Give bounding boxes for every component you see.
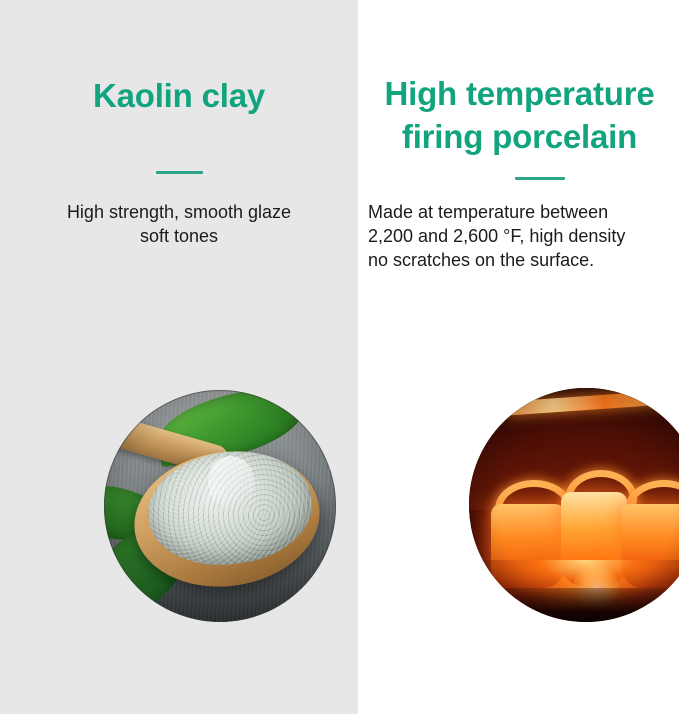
kiln-photo-vignette — [469, 388, 679, 622]
product-feature-comparison: Kaolin clay High strength, smooth glaze … — [0, 0, 679, 714]
feature-panel-high-temperature-firing: High temperature firing porcelain Made a… — [358, 0, 679, 714]
feature-panel-kaolin-clay: Kaolin clay High strength, smooth glaze … — [0, 0, 358, 714]
heading-divider-right — [515, 177, 565, 180]
panel-heading-kaolin-clay: Kaolin clay — [0, 74, 358, 117]
clay-photo-rim — [104, 390, 336, 622]
panel-heading-high-temperature-firing: High temperature firing porcelain — [366, 72, 673, 158]
kaolin-clay-photo — [104, 390, 336, 622]
panel-body-high-temperature-firing: Made at temperature between 2,200 and 2,… — [368, 200, 673, 272]
heading-divider-left — [156, 171, 203, 174]
panel-body-kaolin-clay: High strength, smooth glaze soft tones — [12, 200, 346, 248]
kiln-firing-photo — [469, 388, 679, 622]
